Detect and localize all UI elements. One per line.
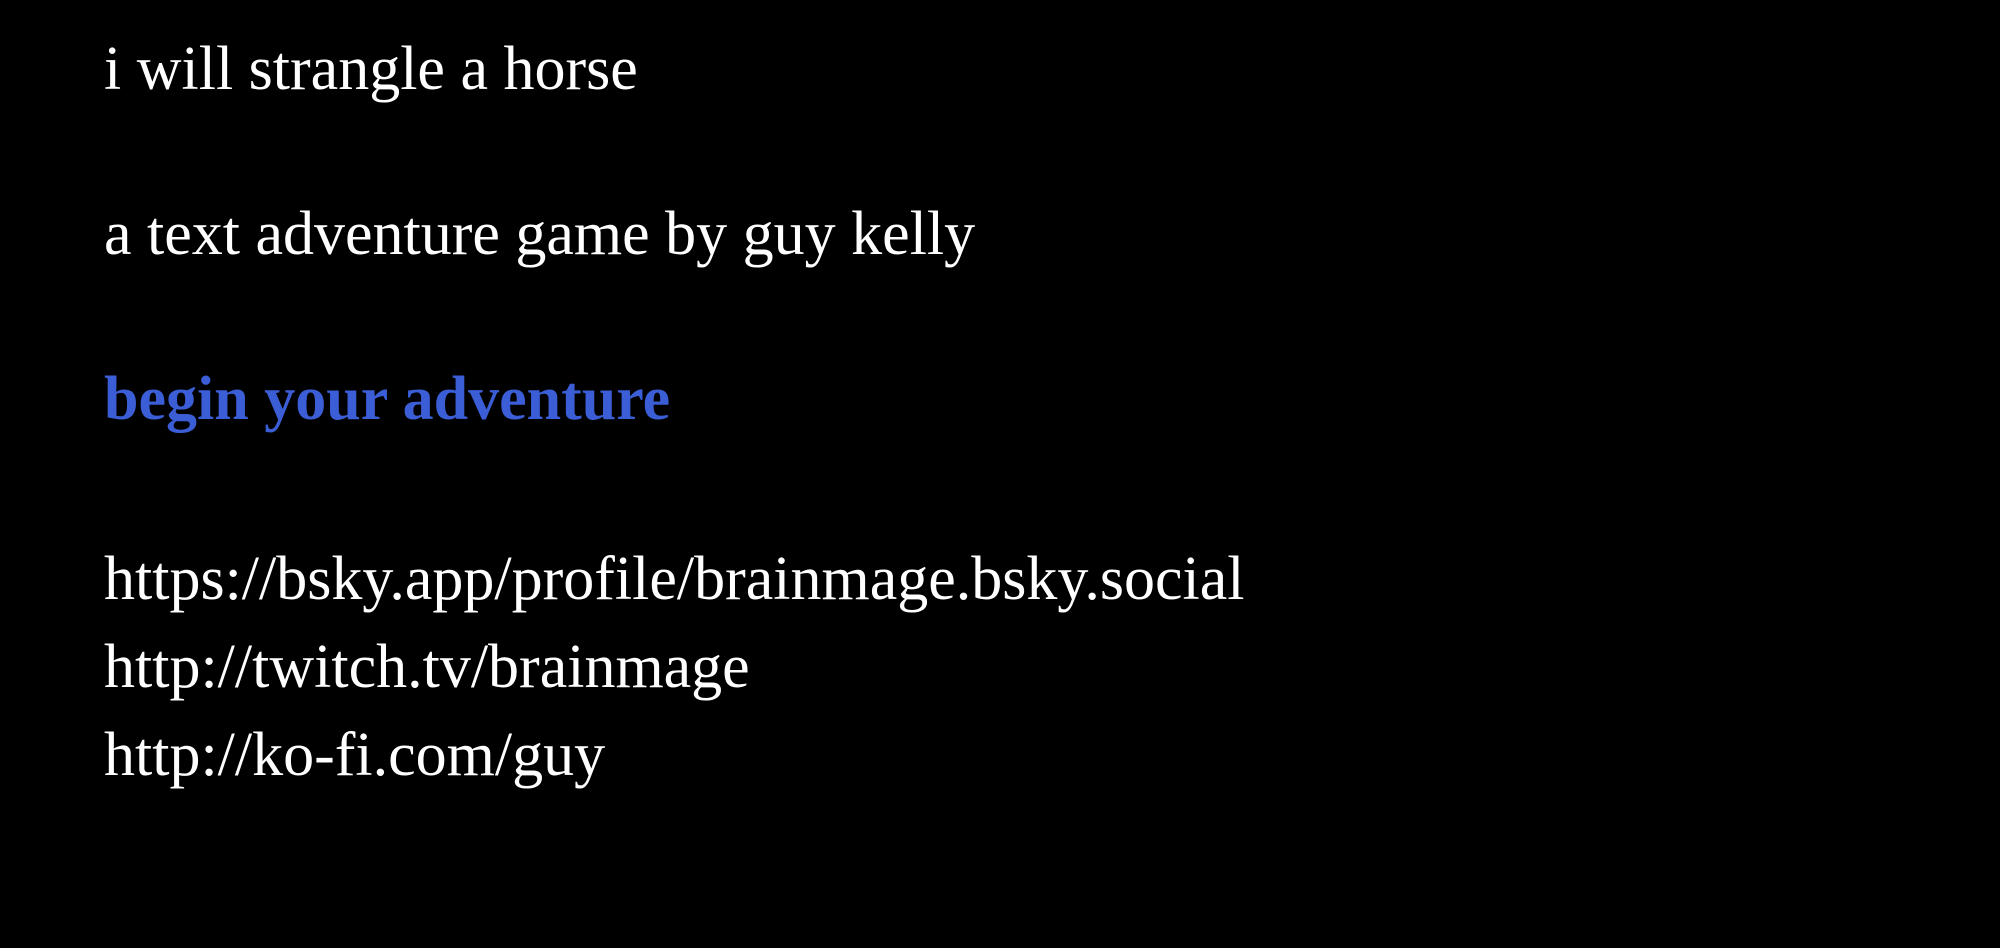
kofi-url: http://ko-fi.com/guy (104, 711, 2000, 799)
twitch-url: http://twitch.tv/brainmage (104, 623, 2000, 711)
subtitle-paragraph: a text adventure game by guy kelly (104, 100, 2000, 265)
title-paragraph: i will strangle a horse (104, 0, 2000, 100)
page-subtitle: a text adventure game by guy kelly (104, 203, 2000, 265)
bluesky-profile-url: https://bsky.app/profile/brainmage.bsky.… (104, 535, 2000, 623)
page-body: i will strangle a horse a text adventure… (0, 0, 2000, 948)
links-paragraph: https://bsky.app/profile/brainmage.bsky.… (104, 430, 2000, 799)
page-title: i will strangle a horse (104, 38, 2000, 100)
cta-paragraph: begin your adventure (104, 265, 2000, 430)
begin-adventure-link[interactable]: begin your adventure (104, 368, 670, 430)
